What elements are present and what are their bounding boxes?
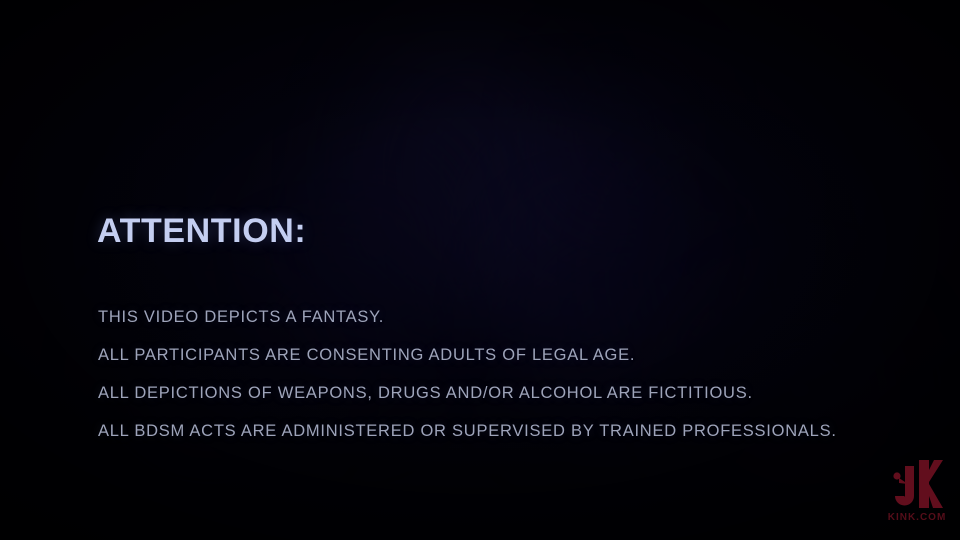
- disclaimer-text-block: ATTENTION: THIS VIDEO DEPICTS A FANTASY.…: [97, 214, 897, 248]
- attention-heading: ATTENTION:: [97, 214, 897, 248]
- jk-monogram-icon: [886, 456, 948, 512]
- notice-line: THIS VIDEO DEPICTS A FANTASY.: [98, 298, 837, 336]
- watermark-wordmark: KINK.COM: [888, 513, 947, 523]
- disclaimer-notice-list: THIS VIDEO DEPICTS A FANTASY. ALL PARTIC…: [98, 298, 837, 450]
- background-vignette: [0, 0, 960, 540]
- background-blur-blob: [560, 60, 680, 210]
- notice-line: ALL PARTICIPANTS ARE CONSENTING ADULTS O…: [98, 336, 837, 374]
- background-scrim: [0, 0, 960, 540]
- background-video-still: [0, 0, 960, 540]
- site-watermark: KINK.COM: [879, 456, 955, 534]
- notice-line: ALL DEPICTIONS OF WEAPONS, DRUGS AND/OR …: [98, 374, 837, 412]
- notice-line: ALL BDSM ACTS ARE ADMINISTERED OR SUPERV…: [98, 412, 837, 450]
- background-blur-blob: [360, 40, 570, 300]
- video-disclaimer-screen: ATTENTION: THIS VIDEO DEPICTS A FANTASY.…: [0, 0, 960, 540]
